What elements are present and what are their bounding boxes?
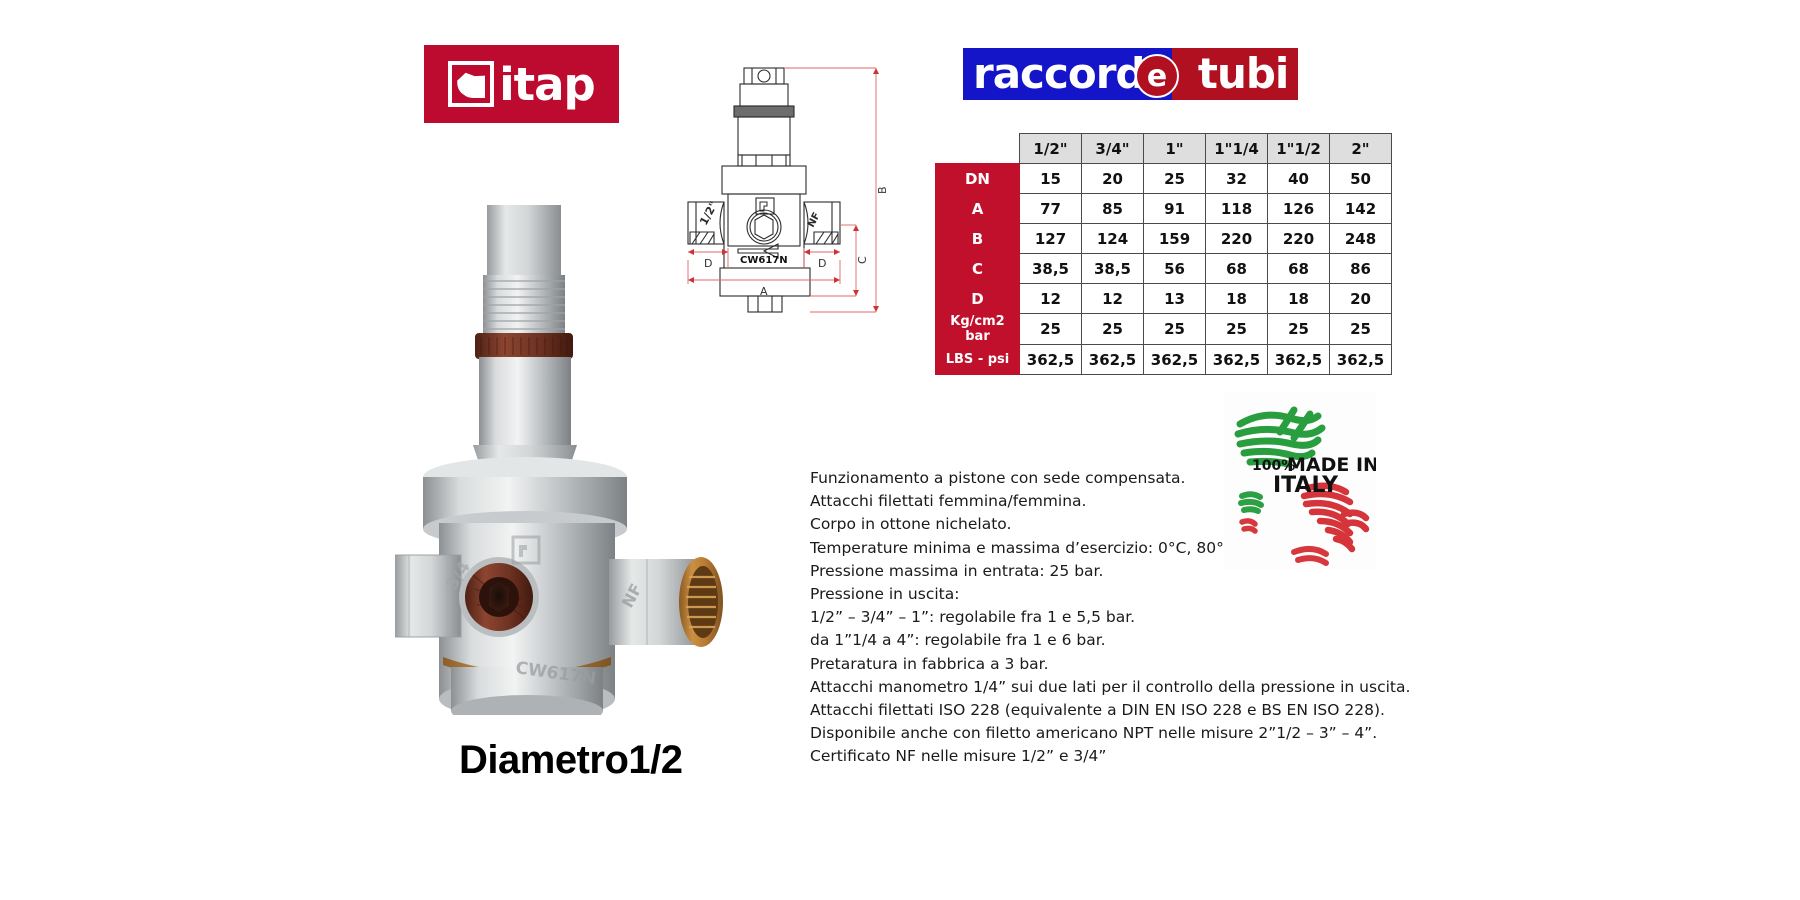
table-row: D 12 12 13 18 18 20 xyxy=(936,284,1392,314)
table-column-header: 1" xyxy=(1144,134,1206,164)
table-row-label: DN xyxy=(936,164,1020,194)
table-corner-cell xyxy=(936,134,1020,164)
table-cell: 38,5 xyxy=(1020,254,1082,284)
itap-logo: itap xyxy=(424,45,619,123)
table-cell: 25 xyxy=(1144,314,1206,345)
spec-line: Certificato NF nelle misure 1/2” e 3/4” xyxy=(810,745,1400,768)
spec-line: 1/2” – 3/4” – 1”: regolabile fra 1 e 5,5… xyxy=(810,606,1400,629)
table-column-header: 1/2" xyxy=(1020,134,1082,164)
table-cell: 85 xyxy=(1082,194,1144,224)
table-cell: 124 xyxy=(1082,224,1144,254)
drawing-dim-d-right-label: D xyxy=(818,257,826,270)
table-column-header: 1"1/2 xyxy=(1268,134,1330,164)
table-cell: 86 xyxy=(1330,254,1392,284)
drawing-dim-c-label: C xyxy=(856,256,869,264)
spec-line: Attacchi manometro 1/4” sui due lati per… xyxy=(810,676,1400,699)
table-row: DN 15 20 25 32 40 50 xyxy=(936,164,1392,194)
table-cell: 13 xyxy=(1144,284,1206,314)
table-cell: 77 xyxy=(1020,194,1082,224)
table-header-row: 1/2" 3/4" 1" 1"1/4 1"1/2 2" xyxy=(936,134,1392,164)
table-cell: 25 xyxy=(1144,164,1206,194)
table-cell: 362,5 xyxy=(1330,345,1392,375)
table-row-label: D xyxy=(936,284,1020,314)
datasheet-page: itap raccordi tubi e xyxy=(0,0,1800,900)
table-cell: 25 xyxy=(1330,314,1392,345)
itap-logo-inner: itap xyxy=(448,61,595,107)
table-cell: 15 xyxy=(1020,164,1082,194)
table-cell: 20 xyxy=(1082,164,1144,194)
table-row-label: C xyxy=(936,254,1020,284)
table-cell: 20 xyxy=(1330,284,1392,314)
spec-line: da 1”1/4 a 4”: regolabile fra 1 e 6 bar. xyxy=(810,629,1400,652)
table-cell: 40 xyxy=(1268,164,1330,194)
banner-e-badge: e xyxy=(1135,54,1179,98)
table-cell: 362,5 xyxy=(1144,345,1206,375)
product-photo: CW617N NF 3/4 xyxy=(395,205,815,715)
table-cell: 127 xyxy=(1020,224,1082,254)
table-row: A 77 85 91 118 126 142 xyxy=(936,194,1392,224)
raccordi-e-tubi-banner: raccordi tubi e xyxy=(963,48,1298,100)
table-cell: 362,5 xyxy=(1020,345,1082,375)
table-row-label: LBS - psi xyxy=(936,345,1020,375)
spec-line: Pressione in uscita: xyxy=(810,583,1400,606)
table-cell: 32 xyxy=(1206,164,1268,194)
table-cell: 91 xyxy=(1144,194,1206,224)
table-row-label: A xyxy=(936,194,1020,224)
table-cell: 25 xyxy=(1082,314,1144,345)
table-cell: 362,5 xyxy=(1268,345,1330,375)
table-cell: 18 xyxy=(1206,284,1268,314)
italy-badge-country: ITALY xyxy=(1273,473,1339,498)
table-cell: 248 xyxy=(1330,224,1392,254)
table-row: LBS - psi 362,5 362,5 362,5 362,5 362,5 … xyxy=(936,345,1392,375)
table-row: Kg/cm2 bar 25 25 25 25 25 25 xyxy=(936,314,1392,345)
table-cell: 12 xyxy=(1020,284,1082,314)
table-cell: 362,5 xyxy=(1206,345,1268,375)
page-title: Diametro1/2 xyxy=(459,738,682,783)
dimension-table: 1/2" 3/4" 1" 1"1/4 1"1/2 2" DN 15 20 25 … xyxy=(935,133,1392,375)
table-cell: 362,5 xyxy=(1082,345,1144,375)
itap-logo-wordmark: itap xyxy=(499,63,595,107)
table-row-label: Kg/cm2 bar xyxy=(936,314,1020,345)
spec-line: Disponibile anche con filetto americano … xyxy=(810,722,1400,745)
product-photo-svg: CW617N NF 3/4 xyxy=(395,205,815,715)
table-cell: 220 xyxy=(1206,224,1268,254)
drawing-dim-b-label: B xyxy=(876,186,889,194)
table-cell: 25 xyxy=(1268,314,1330,345)
table-column-header: 3/4" xyxy=(1082,134,1144,164)
table-cell: 12 xyxy=(1082,284,1144,314)
table-row: C 38,5 38,5 56 68 68 86 xyxy=(936,254,1392,284)
table-column-header: 1"1/4 xyxy=(1206,134,1268,164)
table-column-header: 2" xyxy=(1330,134,1392,164)
table-cell: 25 xyxy=(1206,314,1268,345)
table-cell: 126 xyxy=(1268,194,1330,224)
table-cell: 68 xyxy=(1268,254,1330,284)
table-cell: 220 xyxy=(1268,224,1330,254)
table-cell: 25 xyxy=(1020,314,1082,345)
spec-line: Attacchi filettati ISO 228 (equivalente … xyxy=(810,699,1400,722)
itap-square-mark-icon xyxy=(448,61,494,107)
table-cell: 68 xyxy=(1206,254,1268,284)
italy-map-sardinia-icon xyxy=(1241,494,1261,511)
table-cell: 159 xyxy=(1144,224,1206,254)
table-row-label: B xyxy=(936,224,1020,254)
table-cell: 56 xyxy=(1144,254,1206,284)
table-cell: 142 xyxy=(1330,194,1392,224)
spec-line: Pretaratura in fabbrica a 3 bar. xyxy=(810,653,1400,676)
table-cell: 18 xyxy=(1268,284,1330,314)
table-row: B 127 124 159 220 220 248 xyxy=(936,224,1392,254)
table-cell: 118 xyxy=(1206,194,1268,224)
made-in-italy-svg: 100% MADE IN ITALY xyxy=(1224,392,1376,570)
table-cell: 38,5 xyxy=(1082,254,1144,284)
banner-tubi-text: tubi xyxy=(1172,48,1298,100)
made-in-italy-badge: 100% MADE IN ITALY xyxy=(1224,392,1376,570)
table-cell: 50 xyxy=(1330,164,1392,194)
